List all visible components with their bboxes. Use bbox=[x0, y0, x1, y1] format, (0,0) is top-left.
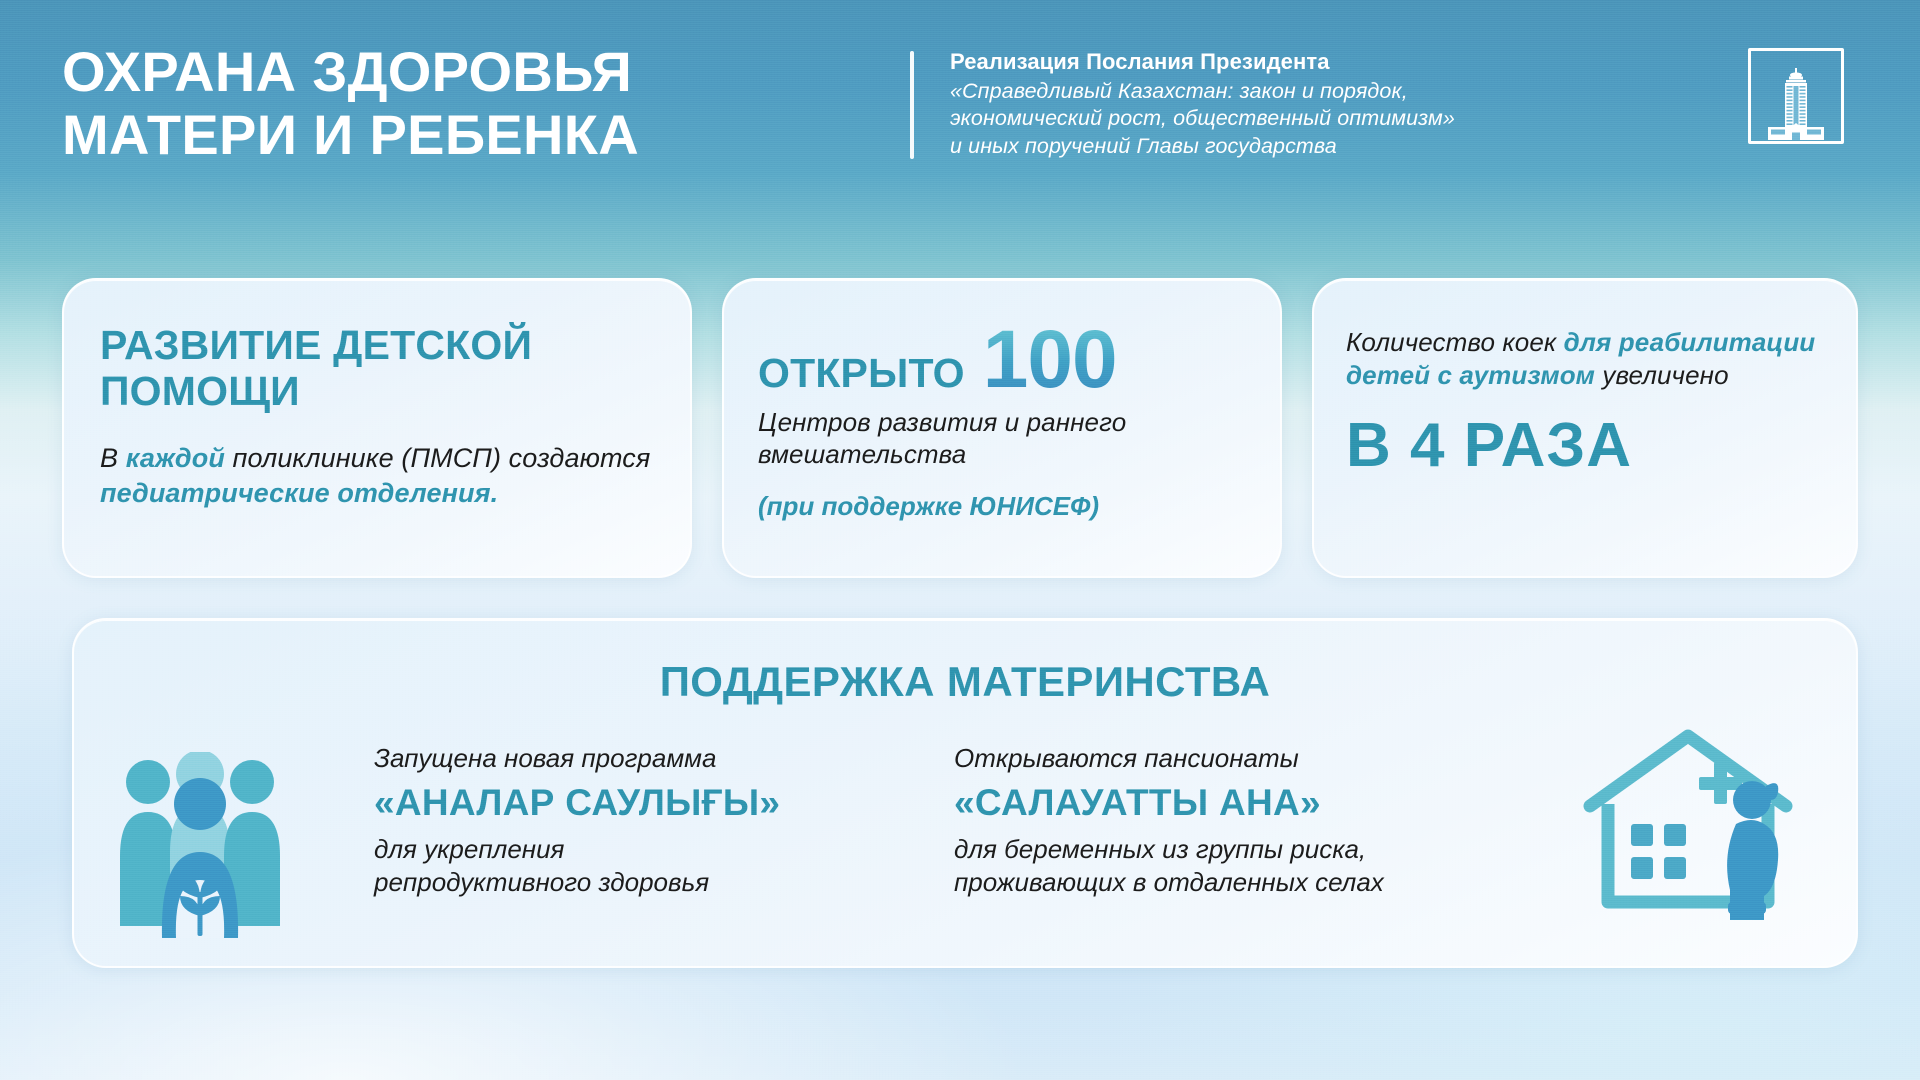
colA-tail-line-2: репродуктивного здоровья bbox=[374, 867, 709, 897]
family-group-icon bbox=[110, 752, 320, 947]
card2-body-line-2: вмешательства bbox=[758, 439, 966, 469]
pregnant-woman-clinic-icon bbox=[1576, 724, 1826, 929]
colB-tail-line-1: для беременных из группы риска, bbox=[954, 834, 1366, 864]
card1-body: В каждой поликлинике (ПМСП) создаются пе… bbox=[100, 441, 662, 511]
subtitle-italic: «Справедливый Казахстан: закон и порядок… bbox=[950, 78, 1710, 161]
colB-lead: Открываются пансионаты bbox=[954, 742, 1534, 775]
card2-unicef-note: (при поддержке ЮНИСЕФ) bbox=[758, 491, 1256, 522]
panel-maternity-support: ПОДДЕРЖКА МАТЕРИНСТВА bbox=[72, 618, 1858, 968]
header: ОХРАНА ЗДОРОВЬЯ МАТЕРИ И РЕБЕНКА Реализа… bbox=[0, 0, 1920, 190]
akorda-building-emblem-icon bbox=[1748, 48, 1844, 144]
card2-body-line-1: Центров развития и раннего bbox=[758, 407, 1126, 437]
card-autism-rehabilitation-beds: Количество коек для реабилитации детей с… bbox=[1312, 278, 1858, 578]
page-title-line-1: ОХРАНА ЗДОРОВЬЯ bbox=[62, 40, 632, 103]
colA-tail: для укрепления репродуктивного здоровья bbox=[374, 833, 894, 899]
subtitle-bold: Реализация Послания Президента bbox=[950, 48, 1710, 76]
card2-number: 100 bbox=[983, 322, 1117, 397]
card2-body: Центров развития и раннего вмешательства bbox=[758, 407, 1256, 470]
subtitle-line-1: «Справедливый Казахстан: закон и порядок… bbox=[950, 78, 1710, 106]
panel-title: ПОДДЕРЖКА МАТЕРИНСТВА bbox=[74, 658, 1856, 706]
card3-body: Количество коек для реабилитации детей с… bbox=[1346, 326, 1830, 393]
page-title-line-2: МАТЕРИ И РЕБЕНКА bbox=[62, 103, 882, 166]
subtitle-line-2: экономический рост, общественный оптимиз… bbox=[950, 105, 1710, 133]
card1-highlight-2: педиатрические отделения. bbox=[100, 478, 498, 508]
card1-body-part2: поликлинике (ПМСП) создаются bbox=[225, 443, 650, 473]
card1-highlight-1: каждой bbox=[126, 443, 225, 473]
card1-heading: РАЗВИТИЕ ДЕТСКОЙ ПОМОЩИ bbox=[100, 322, 662, 415]
card3-multiplier: В 4 РАЗА bbox=[1346, 415, 1830, 477]
header-subtitle-block: Реализация Послания Президента «Справедл… bbox=[950, 48, 1710, 160]
card3-body-part2: увеличено bbox=[1595, 360, 1729, 390]
colA-program-name: «АНАЛАР САУЛЫҒЫ» bbox=[374, 781, 894, 825]
card-child-care-development: РАЗВИТИЕ ДЕТСКОЙ ПОМОЩИ В каждой поликли… bbox=[62, 278, 692, 578]
card1-body-part1: В bbox=[100, 443, 126, 473]
page-title: ОХРАНА ЗДОРОВЬЯ МАТЕРИ И РЕБЕНКА bbox=[62, 40, 882, 167]
infographic-poster: ОХРАНА ЗДОРОВЬЯ МАТЕРИ И РЕБЕНКА Реализа… bbox=[0, 0, 1920, 1080]
card3-body-part1: Количество коек bbox=[1346, 327, 1564, 357]
card2-heading: ОТКРЫТО bbox=[758, 350, 965, 396]
colA-tail-line-1: для укрепления bbox=[374, 834, 564, 864]
card2-headline-row: ОТКРЫТО 100 bbox=[758, 322, 1256, 397]
panel-column-salauatty-ana: Открываются пансионаты «САЛАУАТТЫ АНА» д… bbox=[954, 742, 1534, 898]
colB-tail-line-2: проживающих в отдаленных селах bbox=[954, 867, 1384, 897]
colA-lead: Запущена новая программа bbox=[374, 742, 894, 775]
panel-column-analar-saulygy: Запущена новая программа «АНАЛАР САУЛЫҒЫ… bbox=[374, 742, 894, 898]
card-early-development-centers: ОТКРЫТО 100 Центров развития и раннего в… bbox=[722, 278, 1282, 578]
colB-program-name: «САЛАУАТТЫ АНА» bbox=[954, 781, 1534, 825]
vertical-divider bbox=[910, 51, 914, 159]
subtitle-line-3: и иных поручений Главы государства bbox=[950, 133, 1710, 161]
colB-tail: для беременных из группы риска, проживаю… bbox=[954, 833, 1534, 899]
